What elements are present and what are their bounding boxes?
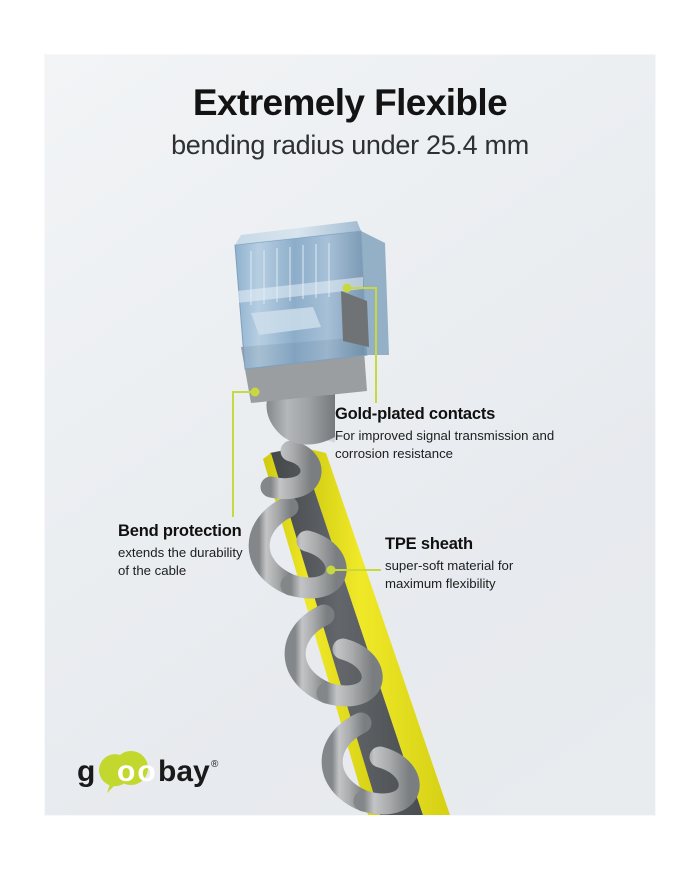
callout-bend-protection: Bend protection extends the durability o…	[118, 522, 243, 579]
infographic-canvas: Extremely Flexible bending radius under …	[0, 0, 700, 869]
product-info-panel: Extremely Flexible bending radius under …	[45, 55, 655, 815]
logo-text-g: g	[77, 755, 95, 788]
callout-description: extends the durability of the cable	[118, 544, 243, 579]
rj45-connector	[235, 221, 389, 403]
callout-title: Gold-plated contacts	[335, 405, 554, 424]
callout-tpe-sheath: TPE sheath super-soft material for maxim…	[385, 535, 513, 592]
logo-registered-mark: ®	[211, 759, 219, 770]
goobay-logo: g oo bay ®	[75, 747, 225, 793]
callout-description: For improved signal transmission and cor…	[335, 427, 554, 462]
callout-title: TPE sheath	[385, 535, 513, 554]
page-title: Extremely Flexible	[45, 82, 655, 124]
page-subtitle: bending radius under 25.4 mm	[45, 130, 655, 161]
callout-title: Bend protection	[118, 522, 243, 541]
logo-text-bay: bay	[158, 755, 210, 788]
callout-description: super-soft material for maximum flexibil…	[385, 557, 513, 592]
callout-gold-plated-contacts: Gold-plated contacts For improved signal…	[335, 405, 554, 462]
logo-text-oo: oo	[117, 755, 158, 788]
